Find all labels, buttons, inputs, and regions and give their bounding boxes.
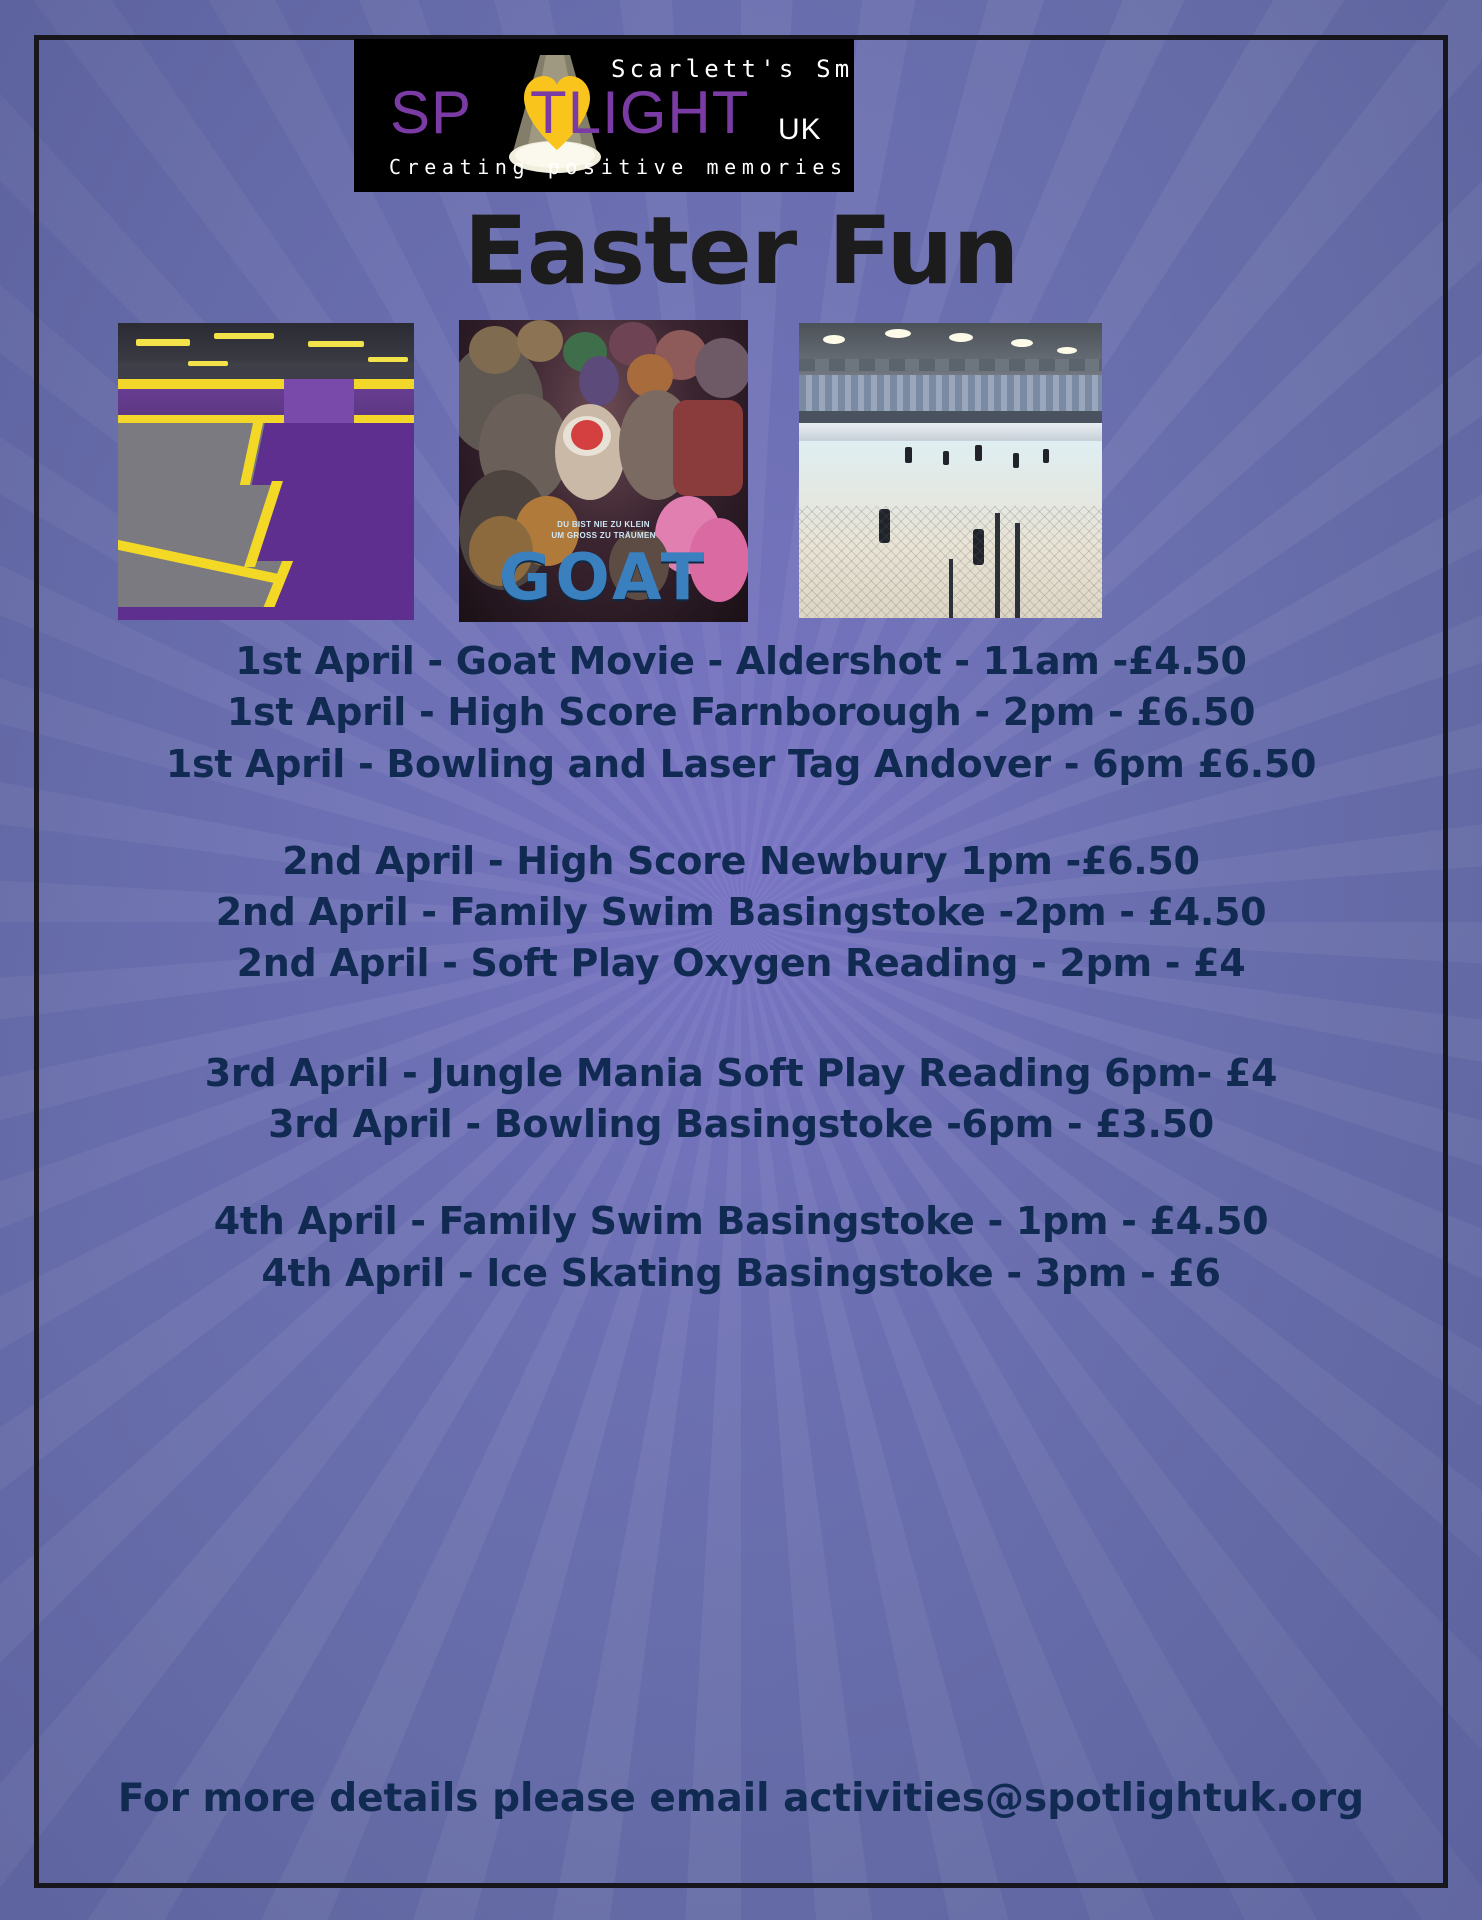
logo-wordmark-sp: SP (390, 79, 472, 146)
page-title: Easter Fun (0, 203, 1482, 302)
photo-strip: DU BIST NIE ZU KLEIN UM GROSS ZU TRÄUMEN… (118, 320, 1364, 622)
event-group-4: 4th April - Family Swim Basingstoke - 1p… (40, 1196, 1442, 1299)
event-line: 3rd April - Bowling Basingstoke -6pm - £… (40, 1099, 1442, 1150)
poster-root: Scarlett's Smiles SPTLIGHT UK Creating p… (0, 0, 1482, 1920)
event-line: 1st April - Bowling and Laser Tag Andove… (40, 739, 1442, 790)
logo-tagline-bottom: Creating positive memories (389, 155, 848, 179)
movie-title: GOAT (459, 546, 748, 610)
brand-logo-banner: Scarlett's Smiles SPTLIGHT UK Creating p… (354, 39, 854, 192)
movie-subtitle: DU BIST NIE ZU KLEIN UM GROSS ZU TRÄUMEN (459, 520, 748, 542)
event-line: 2nd April - Soft Play Oxygen Reading - 2… (40, 938, 1442, 989)
event-group-2: 2nd April - High Score Newbury 1pm -£6.5… (40, 836, 1442, 990)
contact-footer: For more details please email activities… (40, 1776, 1442, 1821)
trampoline-park-photo (118, 323, 414, 620)
logo-suffix-uk: UK (778, 113, 822, 147)
event-line: 4th April - Ice Skating Basingstoke - 3p… (40, 1248, 1442, 1299)
event-line: 1st April - High Score Farnborough - 2pm… (40, 687, 1442, 738)
event-line: 1st April - Goat Movie - Aldershot - 11a… (40, 636, 1442, 687)
logo-wordmark-tlight: TLIGHT (530, 79, 749, 146)
goat-movie-poster-photo: DU BIST NIE ZU KLEIN UM GROSS ZU TRÄUMEN… (459, 320, 748, 622)
poster-content: Scarlett's Smiles SPTLIGHT UK Creating p… (0, 0, 1482, 1920)
event-line: 4th April - Family Swim Basingstoke - 1p… (40, 1196, 1442, 1247)
event-line: 3rd April - Jungle Mania Soft Play Readi… (40, 1048, 1442, 1099)
event-group-3: 3rd April - Jungle Mania Soft Play Readi… (40, 1048, 1442, 1151)
ice-rink-photo (799, 323, 1102, 618)
event-line: 2nd April - Family Swim Basingstoke -2pm… (40, 887, 1442, 938)
logo-wordmark: SPTLIGHT (390, 83, 749, 143)
event-group-1: 1st April - Goat Movie - Aldershot - 11a… (40, 636, 1442, 790)
event-line: 2nd April - High Score Newbury 1pm -£6.5… (40, 836, 1442, 887)
event-listings: 1st April - Goat Movie - Aldershot - 11a… (40, 636, 1442, 1299)
